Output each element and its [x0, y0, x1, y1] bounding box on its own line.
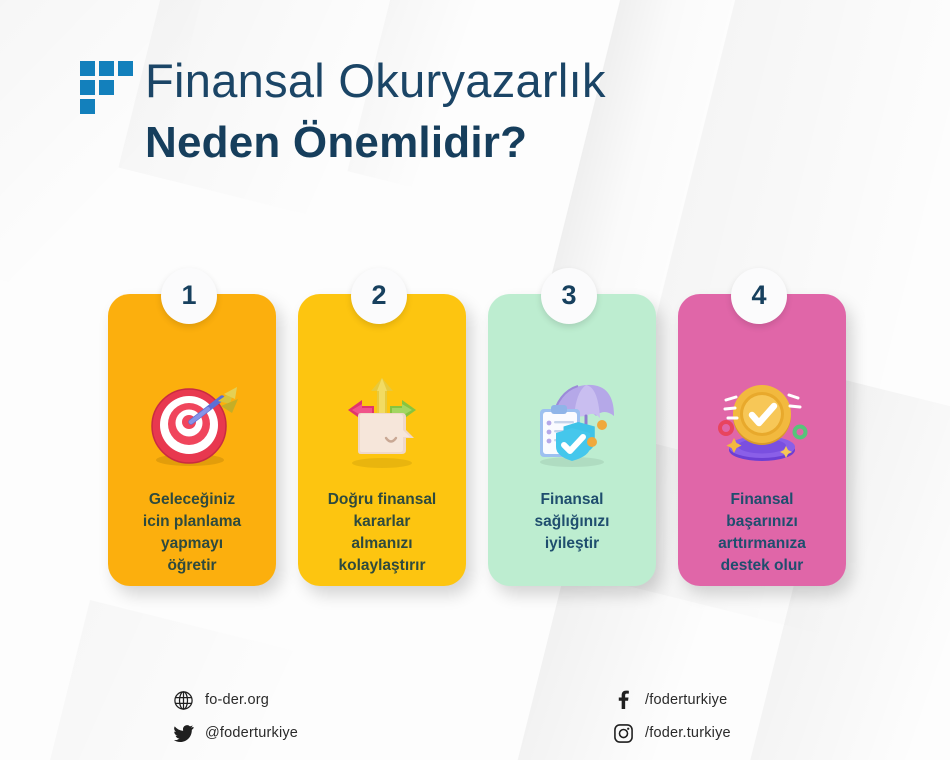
footer: fo-der.org @foderturkiye /foderturkiye [0, 672, 950, 760]
card-body: Doğru finansal kararlar almanızı kolayla… [298, 294, 466, 586]
benefit-card: Geleceğiniz icin planlama yapmayı öğreti… [108, 268, 280, 608]
instagram-icon [612, 722, 634, 744]
twitter-link[interactable]: @foderturkiye [172, 721, 298, 745]
card-number-badge: 2 [351, 268, 407, 324]
benefit-card: Doğru finansal kararlar almanızı kolayla… [298, 268, 470, 608]
card-number-badge: 4 [731, 268, 787, 324]
card-number: 1 [181, 282, 196, 309]
card-text: Doğru finansal kararlar almanızı kolayla… [306, 489, 458, 578]
card-body: Finansal başarınızı arttırmanıza destek … [678, 294, 846, 586]
instagram-label: /foder.turkiye [645, 725, 731, 741]
gold-coin-check-icon [704, 368, 820, 472]
twitter-icon [172, 722, 194, 744]
header: Finansal Okuryazarlık Neden Önemlidir? [80, 56, 840, 170]
benefit-card-list: Geleceğiniz icin planlama yapmayı öğreti… [0, 268, 950, 608]
facebook-label: /foderturkiye [645, 692, 727, 708]
facebook-link[interactable]: /foderturkiye [612, 688, 731, 712]
infographic-poster: Finansal Okuryazarlık Neden Önemlidir? [0, 0, 950, 760]
website-link[interactable]: fo-der.org [172, 688, 298, 712]
card-number-badge: 3 [541, 268, 597, 324]
card-body: Geleceğiniz icin planlama yapmayı öğreti… [108, 294, 276, 586]
card-text: Finansal sağlığınızı iyileştir [496, 489, 648, 555]
globe-icon [172, 689, 194, 711]
dartboard-target-icon [134, 368, 250, 472]
foder-square-mark-icon [80, 61, 132, 123]
card-text: Geleceğiniz icin planlama yapmayı öğreti… [116, 489, 268, 578]
benefit-card: Finansal başarınızı arttırmanıza destek … [678, 268, 850, 608]
page-title-line1: Finansal Okuryazarlık [145, 56, 840, 107]
website-label: fo-der.org [205, 692, 269, 708]
footer-contacts-left: fo-der.org @foderturkiye [172, 688, 298, 745]
instagram-link[interactable]: /foder.turkiye [612, 721, 731, 745]
card-number: 4 [751, 282, 766, 309]
page-title-line2: Neden Önemlidir? [145, 117, 840, 170]
decision-arrows-icon [324, 368, 440, 472]
card-number: 2 [371, 282, 386, 309]
card-body: Finansal sağlığınızı iyileştir [488, 294, 656, 586]
benefit-card: Finansal sağlığınızı iyileştir 3 [488, 268, 660, 608]
card-text: Finansal başarınızı arttırmanıza destek … [686, 489, 838, 578]
card-number-badge: 1 [161, 268, 217, 324]
facebook-icon [612, 689, 634, 711]
twitter-label: @foderturkiye [205, 725, 298, 741]
umbrella-clipboard-shield-icon [514, 368, 630, 472]
card-number: 3 [561, 282, 576, 309]
footer-contacts-right: /foderturkiye /foder.turkiye [612, 688, 731, 745]
